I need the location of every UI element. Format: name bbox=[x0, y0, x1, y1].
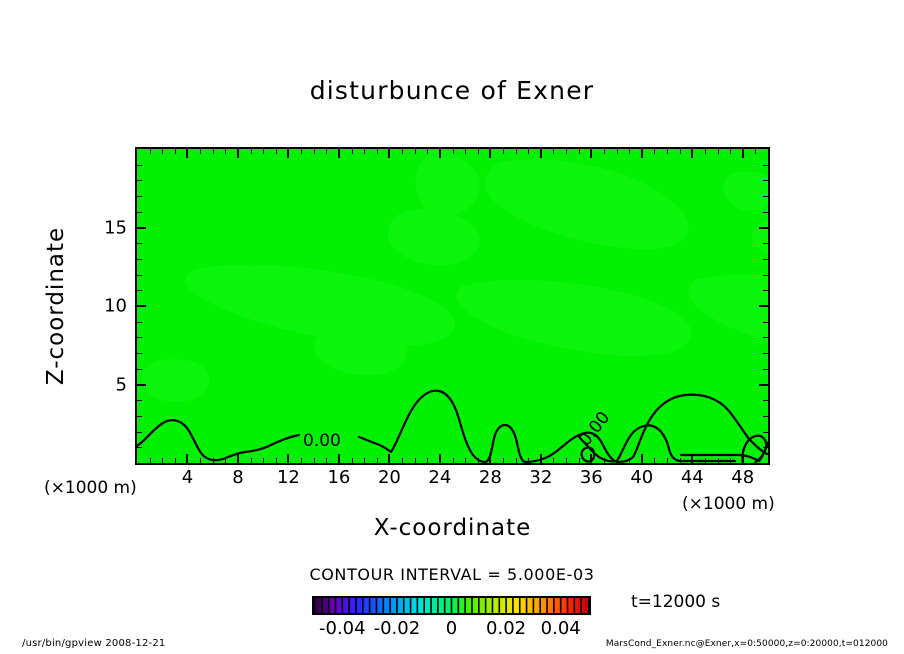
x-tick-bottom bbox=[314, 458, 315, 463]
x-tick-top bbox=[641, 149, 643, 158]
x-tick-label: 28 bbox=[479, 467, 502, 488]
x-tick-top bbox=[528, 149, 529, 154]
x-tick-bottom bbox=[478, 458, 479, 463]
y-tick-right bbox=[763, 400, 768, 401]
x-tick-top bbox=[213, 149, 214, 154]
y-tick-left bbox=[137, 369, 142, 370]
x-tick-top bbox=[755, 149, 756, 154]
footer-dataset-stamp: MarsCond_Exner.nc@Exner,x=0:50000,z=0:20… bbox=[606, 639, 888, 649]
x-tick-label: 4 bbox=[182, 467, 193, 488]
time-annotation: t=12000 s bbox=[631, 592, 720, 612]
colorbar-tick-labels: -0.04-0.0200.020.04 bbox=[312, 618, 591, 640]
x-tick-bottom bbox=[540, 454, 542, 463]
y-tick-right bbox=[763, 243, 768, 244]
x-tick-top bbox=[314, 149, 315, 154]
x-tick-bottom bbox=[364, 458, 365, 463]
x-tick-bottom bbox=[175, 458, 176, 463]
x-tick-top bbox=[237, 149, 239, 158]
x-tick-bottom bbox=[566, 458, 567, 463]
y-tick-label: 10 bbox=[83, 296, 127, 317]
y-tick-left bbox=[137, 180, 142, 181]
x-tick-bottom bbox=[590, 454, 592, 463]
x-tick-bottom bbox=[617, 458, 618, 463]
x-tick-bottom bbox=[237, 454, 239, 463]
y-tick-right bbox=[763, 337, 768, 338]
y-tick-right bbox=[763, 196, 768, 197]
x-tick-bottom bbox=[629, 458, 630, 463]
x-tick-top bbox=[629, 149, 630, 154]
y-tick-right bbox=[763, 353, 768, 354]
x-tick-top bbox=[251, 149, 252, 154]
x-tick-bottom bbox=[263, 458, 264, 463]
x-tick-top bbox=[200, 149, 201, 154]
x-tick-bottom bbox=[276, 458, 277, 463]
x-tick-label: 32 bbox=[529, 467, 552, 488]
x-tick-top bbox=[742, 149, 744, 158]
y-tick-right bbox=[759, 384, 768, 386]
y-axis-title: Z-coordinate bbox=[43, 227, 69, 385]
x-tick-top bbox=[667, 149, 668, 154]
x-tick-top bbox=[388, 149, 390, 158]
x-tick-bottom bbox=[730, 458, 731, 463]
y-tick-left bbox=[137, 400, 142, 401]
footer-command-stamp: /usr/bin/gpview 2008-12-21 bbox=[22, 638, 165, 649]
x-tick-top bbox=[503, 149, 504, 154]
y-tick-left bbox=[137, 337, 142, 338]
x-tick-bottom bbox=[742, 454, 744, 463]
y-tick-left bbox=[137, 243, 142, 244]
x-tick-top bbox=[150, 149, 151, 154]
y-tick-left bbox=[137, 275, 142, 276]
x-tick-bottom bbox=[326, 458, 327, 463]
x-tick-bottom bbox=[388, 454, 390, 463]
x-tick-bottom bbox=[680, 458, 681, 463]
x-tick-top bbox=[402, 149, 403, 154]
x-tick-top bbox=[718, 149, 719, 154]
x-tick-top bbox=[478, 149, 479, 154]
figure-canvas: disturbunce of Exner bbox=[0, 0, 904, 654]
x-tick-top bbox=[566, 149, 567, 154]
x-tick-bottom bbox=[439, 454, 441, 463]
x-tick-bottom bbox=[162, 458, 163, 463]
x-tick-top bbox=[540, 149, 542, 158]
y-tick-right bbox=[759, 305, 768, 307]
x-tick-label: 44 bbox=[681, 467, 704, 488]
y-tick-left bbox=[137, 259, 142, 260]
x-tick-top bbox=[516, 149, 517, 154]
x-tick-bottom bbox=[579, 458, 580, 463]
x-tick-label: 36 bbox=[580, 467, 603, 488]
x-tick-top bbox=[301, 149, 302, 154]
x-tick-label: 20 bbox=[378, 467, 401, 488]
x-tick-top bbox=[465, 149, 466, 154]
x-tick-top bbox=[553, 149, 554, 154]
contour-label-left: 0.00 bbox=[303, 431, 341, 451]
y-tick-right bbox=[763, 165, 768, 166]
x-tick-top bbox=[225, 149, 226, 154]
y-tick-right bbox=[763, 416, 768, 417]
x-tick-top bbox=[654, 149, 655, 154]
y-tick-left bbox=[137, 322, 142, 323]
x-tick-bottom bbox=[251, 458, 252, 463]
y-tick-right bbox=[763, 322, 768, 323]
x-tick-label: 48 bbox=[731, 467, 754, 488]
x-tick-top bbox=[377, 149, 378, 154]
x-tick-top bbox=[287, 149, 289, 158]
x-axis-units-right: (×1000 m) bbox=[682, 494, 775, 514]
y-tick-right bbox=[763, 432, 768, 433]
y-tick-left bbox=[137, 384, 146, 386]
colorbar-tick-label: 0.02 bbox=[486, 618, 526, 639]
y-tick-left bbox=[137, 305, 146, 307]
x-tick-top bbox=[453, 149, 454, 154]
x-tick-bottom bbox=[528, 458, 529, 463]
x-tick-top bbox=[705, 149, 706, 154]
x-tick-top bbox=[427, 149, 428, 154]
x-tick-bottom bbox=[667, 458, 668, 463]
x-tick-bottom bbox=[352, 458, 353, 463]
colorbar[interactable] bbox=[312, 596, 591, 615]
x-tick-top bbox=[730, 149, 731, 154]
x-tick-bottom bbox=[453, 458, 454, 463]
x-tick-bottom bbox=[225, 458, 226, 463]
x-tick-bottom bbox=[705, 458, 706, 463]
x-tick-label: 16 bbox=[327, 467, 350, 488]
x-tick-top bbox=[186, 149, 188, 158]
x-tick-top bbox=[617, 149, 618, 154]
x-tick-bottom bbox=[402, 458, 403, 463]
x-tick-bottom bbox=[213, 458, 214, 463]
x-tick-top bbox=[604, 149, 605, 154]
x-tick-bottom bbox=[415, 458, 416, 463]
y-tick-left bbox=[137, 353, 142, 354]
y-tick-left bbox=[137, 196, 142, 197]
x-tick-top bbox=[579, 149, 580, 154]
y-tick-right bbox=[763, 259, 768, 260]
x-tick-bottom bbox=[301, 458, 302, 463]
x-tick-bottom bbox=[287, 454, 289, 463]
colorbar-tick-label: -0.02 bbox=[374, 618, 421, 639]
y-tick-left bbox=[137, 432, 142, 433]
x-tick-top bbox=[364, 149, 365, 154]
y-tick-left bbox=[137, 227, 146, 229]
x-tick-top bbox=[326, 149, 327, 154]
x-tick-bottom bbox=[641, 454, 643, 463]
x-tick-label: 24 bbox=[428, 467, 451, 488]
x-tick-top bbox=[175, 149, 176, 154]
y-tick-left bbox=[137, 290, 142, 291]
colorbar-tick-label: 0 bbox=[446, 618, 457, 639]
x-tick-bottom bbox=[755, 458, 756, 463]
contour-plot-svg: 0.00 bbox=[137, 149, 768, 463]
y-tick-left bbox=[137, 447, 142, 448]
plot-area[interactable]: 0.00 bbox=[135, 147, 770, 465]
x-tick-label: 12 bbox=[277, 467, 300, 488]
x-tick-top bbox=[263, 149, 264, 154]
x-tick-bottom bbox=[691, 454, 693, 463]
x-tick-bottom bbox=[150, 458, 151, 463]
x-tick-top bbox=[276, 149, 277, 154]
x-tick-bottom bbox=[503, 458, 504, 463]
colorbar-tick-label: 0.04 bbox=[541, 618, 581, 639]
y-tick-right bbox=[763, 447, 768, 448]
page-title: disturbunce of Exner bbox=[0, 76, 904, 105]
y-tick-left bbox=[137, 416, 142, 417]
x-tick-bottom bbox=[553, 458, 554, 463]
x-tick-top bbox=[352, 149, 353, 154]
x-tick-bottom bbox=[604, 458, 605, 463]
y-tick-right bbox=[763, 290, 768, 291]
x-tick-bottom bbox=[377, 458, 378, 463]
x-tick-top bbox=[680, 149, 681, 154]
x-tick-bottom bbox=[200, 458, 201, 463]
x-tick-top bbox=[489, 149, 491, 158]
x-tick-top bbox=[590, 149, 592, 158]
x-tick-top bbox=[338, 149, 340, 158]
contour-interval-caption: CONTOUR INTERVAL = 5.000E-03 bbox=[0, 565, 904, 584]
y-tick-right bbox=[763, 275, 768, 276]
x-axis-units-left: (×1000 m) bbox=[44, 478, 137, 498]
colorbar-tick-label: -0.04 bbox=[319, 618, 366, 639]
y-tick-right bbox=[763, 180, 768, 181]
colorbar-swatches bbox=[312, 596, 591, 615]
y-tick-right bbox=[763, 212, 768, 213]
y-tick-label: 15 bbox=[83, 217, 127, 238]
x-tick-bottom bbox=[465, 458, 466, 463]
x-tick-bottom bbox=[338, 454, 340, 463]
x-tick-bottom bbox=[718, 458, 719, 463]
x-axis-title: X-coordinate bbox=[135, 515, 770, 541]
x-tick-label: 40 bbox=[630, 467, 653, 488]
x-tick-bottom bbox=[186, 454, 188, 463]
x-tick-top bbox=[162, 149, 163, 154]
y-tick-left bbox=[137, 212, 142, 213]
x-tick-bottom bbox=[427, 458, 428, 463]
x-tick-label: 8 bbox=[232, 467, 243, 488]
x-tick-bottom bbox=[489, 454, 491, 463]
x-tick-top bbox=[415, 149, 416, 154]
x-tick-top bbox=[439, 149, 441, 158]
y-tick-right bbox=[759, 227, 768, 229]
x-tick-bottom bbox=[654, 458, 655, 463]
y-tick-left bbox=[137, 165, 142, 166]
y-tick-right bbox=[763, 369, 768, 370]
y-tick-label: 5 bbox=[83, 374, 127, 395]
x-tick-top bbox=[691, 149, 693, 158]
x-tick-bottom bbox=[516, 458, 517, 463]
